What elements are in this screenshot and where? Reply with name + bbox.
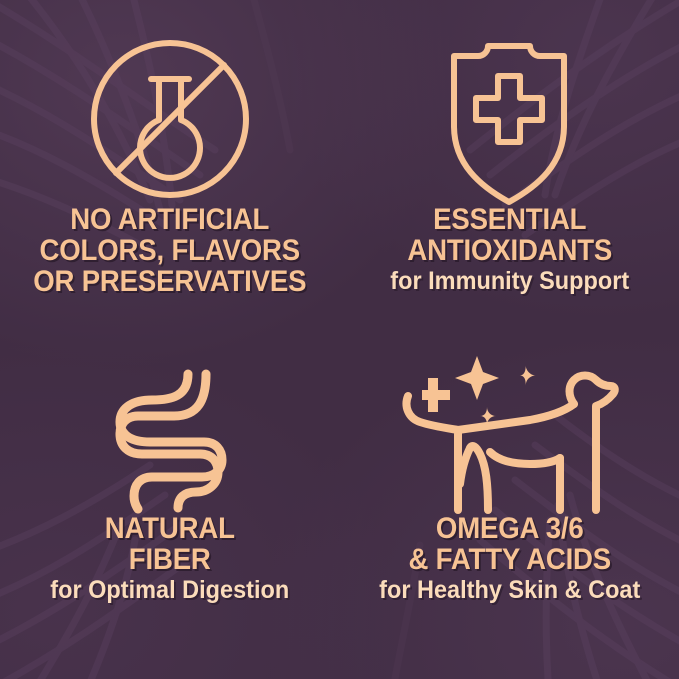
headline-line: COLORS, FLAVORS [14,235,326,266]
headline-line: & FATTY ACIDS [353,544,665,575]
sparkles [422,356,536,425]
subline-natural-fiber: for Optimal Digestion [10,577,329,603]
feature-omega-fatty-acids: OMEGA 3/6 & FATTY ACIDS for Healthy Skin… [340,340,679,679]
feature-text-antioxidants: ESSENTIAL ANTIOXIDANTS for Immunity Supp… [340,204,679,294]
headline-line: FIBER [14,544,326,575]
feature-text-omega-fatty-acids: OMEGA 3/6 & FATTY ACIDS for Healthy Skin… [340,513,679,603]
subline-antioxidants: for Immunity Support [350,268,669,294]
headline-line: NATURAL [14,513,326,544]
feature-text-natural-fiber: NATURAL FIBER for Optimal Digestion [0,513,340,603]
dog-sparkle-icon [402,348,617,513]
feature-no-artificial: NO ARTIFICIAL COLORS, FLAVORS OR PRESERV… [0,0,340,340]
intestine-icon [112,368,227,513]
headline-omega-fatty-acids: OMEGA 3/6 & FATTY ACIDS [353,513,665,575]
feature-grid: NO ARTIFICIAL COLORS, FLAVORS OR PRESERV… [0,0,679,679]
headline-line: OR PRESERVATIVES [14,266,326,297]
feature-natural-fiber: NATURAL FIBER for Optimal Digestion [0,340,340,679]
product-benefits-infographic: NO ARTIFICIAL COLORS, FLAVORS OR PRESERV… [0,0,679,679]
headline-antioxidants: ESSENTIAL ANTIOXIDANTS [353,204,665,266]
headline-line: ANTIOXIDANTS [353,235,665,266]
headline-no-artificial: NO ARTIFICIAL COLORS, FLAVORS OR PRESERV… [14,204,326,298]
headline-natural-fiber: NATURAL FIBER [14,513,326,575]
feature-text-no-artificial: NO ARTIFICIAL COLORS, FLAVORS OR PRESERV… [0,204,340,298]
feature-antioxidants: ESSENTIAL ANTIOXIDANTS for Immunity Supp… [340,0,679,340]
headline-line: OMEGA 3/6 [353,513,665,544]
shield-cross-icon [434,34,584,204]
headline-line: NO ARTIFICIAL [14,204,326,235]
no-flask-icon [85,34,255,204]
headline-line: ESSENTIAL [353,204,665,235]
subline-omega-fatty-acids: for Healthy Skin & Coat [350,577,669,603]
